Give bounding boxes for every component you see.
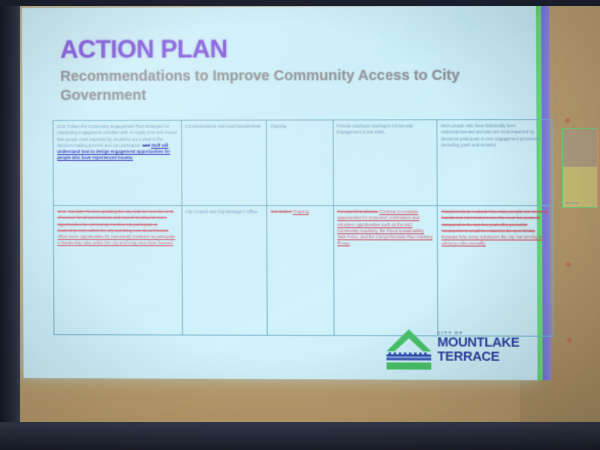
deleted-text: Consider Review updating the city code t… — [57, 209, 173, 233]
cell-action-ca2: CA2: Follow the Community Engagement Pla… — [53, 120, 181, 205]
photo-frame-bottom — [0, 422, 600, 450]
action-label-deleted: CA3: — [57, 209, 66, 214]
cell-responsible-1: Communications and Lead Departments — [181, 120, 267, 205]
slide-title: ACTION PLAN — [60, 35, 227, 65]
deleted-text: For council to discuss — [337, 209, 378, 214]
table-row: CA2: Follow the Community Engagement Pla… — [53, 120, 552, 206]
slide-canvas: ACTION PLAN Recommendations to Improve C… — [22, 6, 538, 380]
status-deleted: Not started — [271, 209, 292, 214]
wall-dot-3 — [567, 338, 572, 343]
photo-frame-left — [0, 0, 20, 450]
cell-status-2: Not started Ongoing — [267, 206, 334, 336]
logo-line-1: MOUNTLAKE — [437, 335, 519, 349]
action-plan-table: CA2: Follow the Community Engagement Pla… — [53, 119, 554, 337]
cell-action-ca3: CA3: Consider Review updating the city c… — [53, 206, 182, 336]
cell-status-1: Ongoing — [266, 120, 333, 206]
inserted-text: Allow more opportunities for community m… — [58, 234, 176, 245]
wall-poster: NOTICE — [562, 128, 598, 208]
cell-responsible-2: City Council and City Manager's Office — [181, 206, 267, 336]
cell-timeline-2: For council to discuss Continue to evalu… — [333, 206, 438, 336]
deleted-text: and — [142, 143, 150, 148]
wall-dot-1 — [565, 118, 570, 123]
mountain-icon — [384, 327, 433, 372]
photo-frame-top — [0, 0, 600, 6]
slide-subtitle: Recommendations to Improve Community Acc… — [60, 67, 465, 106]
inserted-text: Continue to evaluate opportunities for t… — [337, 209, 432, 246]
cell-outcome-2: If implemented, evaluate how many people… — [437, 206, 553, 337]
cell-timeline-1: Provide employee training in Community E… — [333, 120, 438, 206]
cell-outcome-1: More people who have historically been u… — [437, 120, 552, 206]
photo-scene: NOTICE ACTION PLAN Recommendations to Im… — [0, 0, 600, 450]
wall-dot-2 — [566, 262, 571, 267]
inserted-text: Evaluate how many volunteers the city ha… — [441, 235, 542, 246]
deleted-text: If implemented, evaluate how many people… — [441, 209, 548, 233]
projected-slide: ACTION PLAN Recommendations to Improve C… — [22, 6, 551, 381]
wall-tiny-text-1 — [572, 118, 573, 122]
city-logo: CITY OF MOUNTLAKE TERRACE — [384, 327, 522, 372]
wall-poster-label: NOTICE — [566, 201, 579, 205]
status-inserted: Ongoing — [293, 209, 309, 214]
logo-wordmark: CITY OF MOUNTLAKE TERRACE — [437, 330, 519, 363]
action-label: CA2: — [57, 124, 66, 129]
logo-line-2: TERRACE — [437, 349, 519, 363]
table-row: CA3: Consider Review updating the city c… — [53, 206, 552, 337]
